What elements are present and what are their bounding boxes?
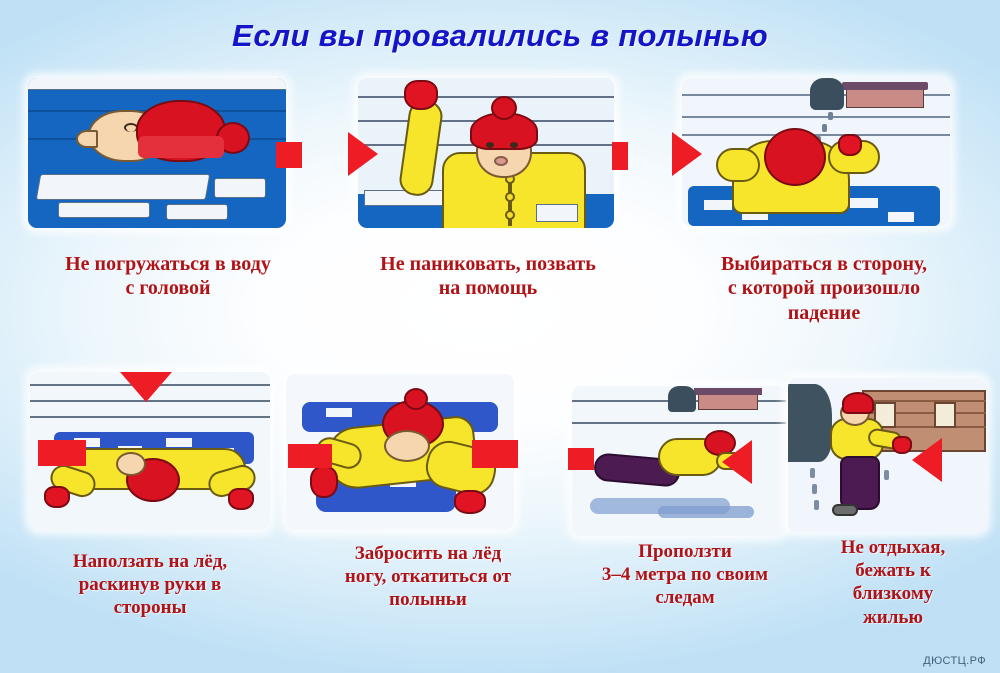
red-mitten-shape: [404, 80, 438, 110]
step-arrow-2: [348, 132, 378, 176]
caption-line: Не отдыхая,: [798, 536, 988, 559]
step-marker-2: [612, 142, 628, 170]
caption-line: стороны: [6, 596, 294, 619]
caption-line: падение: [664, 301, 984, 325]
caption-line: полыньи: [290, 588, 566, 611]
step-arrow-3: [672, 132, 702, 176]
step-arrow-7: [912, 438, 942, 482]
watermark-label: ДЮСТЦ.РФ: [923, 655, 986, 667]
step-arrow-4: [120, 372, 172, 402]
step-caption-3: Выбираться в сторону, с которой произошл…: [664, 252, 984, 325]
illustration-panel-3: [682, 78, 950, 226]
scene-person-raising-hand: [358, 78, 614, 228]
caption-line: Не паниковать, позвать: [338, 252, 638, 276]
illustration-panel-6: [572, 386, 786, 536]
house-shape: [846, 88, 924, 108]
step-caption-6: Проползти 3–4 метра по своим следам: [572, 540, 798, 610]
caption-line: Выбираться в сторону,: [664, 252, 984, 276]
caption-line: жилью: [798, 606, 988, 629]
step-marker-5: [288, 444, 332, 468]
scene-person-running-to-cabin: [788, 378, 986, 532]
step-caption-2: Не паниковать, позвать на помощь: [338, 252, 638, 301]
step-caption-4: Наползать на лёд, раскинув руки в сторон…: [6, 550, 294, 620]
caption-line: на помощь: [338, 276, 638, 300]
step-marker-4: [38, 440, 86, 466]
scene-person-back-to-hole: [682, 78, 950, 226]
caption-line: ногу, откатиться от: [290, 565, 566, 588]
step-marker-5b: [472, 440, 518, 468]
step-caption-1: Не погружаться в воду с головой: [8, 252, 328, 301]
caption-line: 3–4 метра по своим: [572, 563, 798, 586]
illustration-panel-7: [788, 378, 986, 532]
illustration-panel-1: [28, 78, 286, 228]
caption-line: с головой: [8, 276, 328, 300]
caption-line: следам: [572, 586, 798, 609]
caption-line: Не погружаться в воду: [8, 252, 328, 276]
illustration-panel-2: [358, 78, 614, 228]
step-arrow-6: [722, 440, 752, 484]
scene-person-crawling: [572, 386, 786, 536]
step-caption-7: Не отдыхая, бежать к близкому жилью: [798, 536, 988, 629]
caption-line: раскинув руки в: [6, 573, 294, 596]
caption-line: бежать к: [798, 559, 988, 582]
caption-line: близкому: [798, 582, 988, 605]
step-marker-1: [276, 142, 302, 168]
caption-line: Забросить на лёд: [290, 542, 566, 565]
poster-root: Если вы провалились в полынью: [0, 0, 1000, 673]
page-title: Если вы провалились в полынью: [0, 18, 1000, 54]
step-caption-5: Забросить на лёд ногу, откатиться от пол…: [290, 542, 566, 612]
caption-line: с которой произошло: [664, 276, 984, 300]
scene-head-above-water: [28, 78, 286, 228]
caption-line: Наползать на лёд,: [6, 550, 294, 573]
caption-line: Проползти: [572, 540, 798, 563]
step-marker-6: [568, 448, 594, 470]
